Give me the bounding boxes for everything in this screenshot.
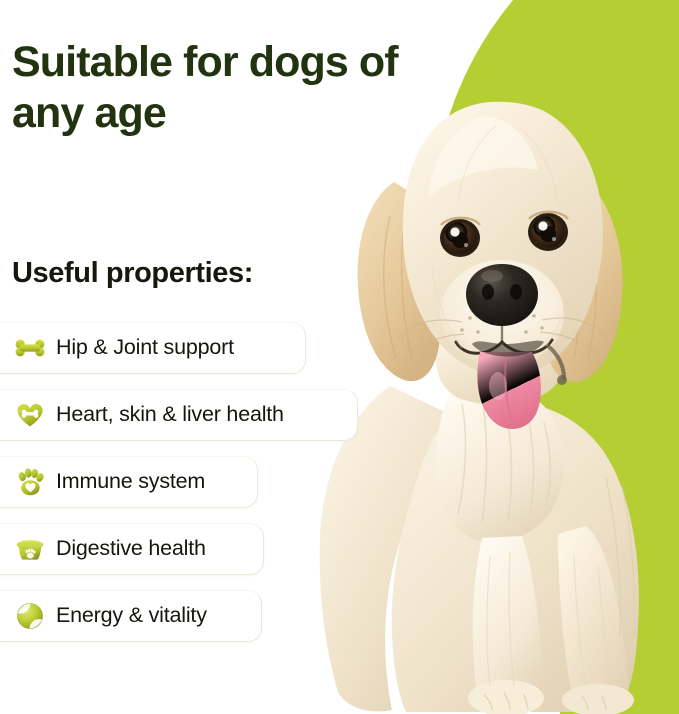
dog-bone-icon (14, 332, 46, 364)
heart-with-bone-icon (14, 399, 46, 431)
page-title: Suitable for dogs of any age (12, 37, 432, 138)
infographic-page: Suitable for dogs of any age Useful prop… (0, 0, 679, 714)
benefit-item-hip-joint-support[interactable]: Hip & Joint support (0, 322, 306, 374)
benefit-item-immune-system[interactable]: Immune system (0, 456, 258, 508)
benefit-label: Heart, skin & liver health (56, 404, 284, 426)
benefit-label: Digestive health (56, 538, 206, 560)
benefit-item-energy-vitality[interactable]: Energy & vitality (0, 590, 262, 642)
benefit-label: Hip & Joint support (56, 337, 234, 359)
paw-print-icon (14, 466, 46, 498)
benefit-label: Immune system (56, 471, 205, 493)
benefit-item-heart-skin-liver-health[interactable]: Heart, skin & liver health (0, 389, 358, 441)
benefits-list: Hip & Joint support (0, 322, 430, 657)
section-heading-useful-properties: Useful properties: (12, 258, 253, 290)
content-column: Suitable for dogs of any age Useful prop… (0, 0, 430, 714)
tennis-ball-icon (14, 600, 46, 632)
benefit-label: Energy & vitality (56, 605, 207, 627)
benefit-item-digestive-health[interactable]: Digestive health (0, 523, 264, 575)
dog-food-bowl-icon (14, 533, 46, 565)
